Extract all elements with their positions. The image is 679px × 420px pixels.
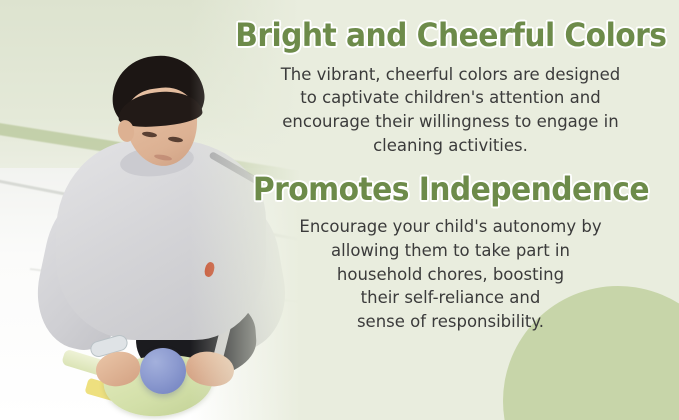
blue-ball — [140, 348, 186, 394]
section-2-body-line: allowing them to take part in — [299, 239, 601, 263]
section-2-body-line: their self-reliance and — [299, 286, 601, 310]
feature-copy: Bright and Cheerful Colors The vibrant, … — [222, 0, 679, 420]
section-1-body-line: cleaning activities. — [281, 134, 621, 158]
feature-banner: Bright and Cheerful Colors The vibrant, … — [0, 0, 679, 420]
section-1-body-line: to captivate children's attention and — [281, 86, 621, 110]
section-1-body-line: The vibrant, cheerful colors are designe… — [281, 63, 621, 87]
section-2-body-line: household chores, boosting — [299, 263, 601, 287]
section-1-body-line: encourage their willingness to engage in — [281, 110, 621, 134]
section-1-body: The vibrant, cheerful colors are designe… — [281, 53, 621, 158]
section-1-heading: Bright and Cheerful Colors — [235, 18, 666, 53]
section-2-body-line: sense of responsibility. — [299, 310, 601, 334]
section-2-heading: Promotes Independence — [252, 172, 648, 207]
section-2-body: Encourage your child's autonomy by allow… — [299, 206, 601, 334]
section-2-body-line: Encourage your child's autonomy by — [299, 215, 601, 239]
